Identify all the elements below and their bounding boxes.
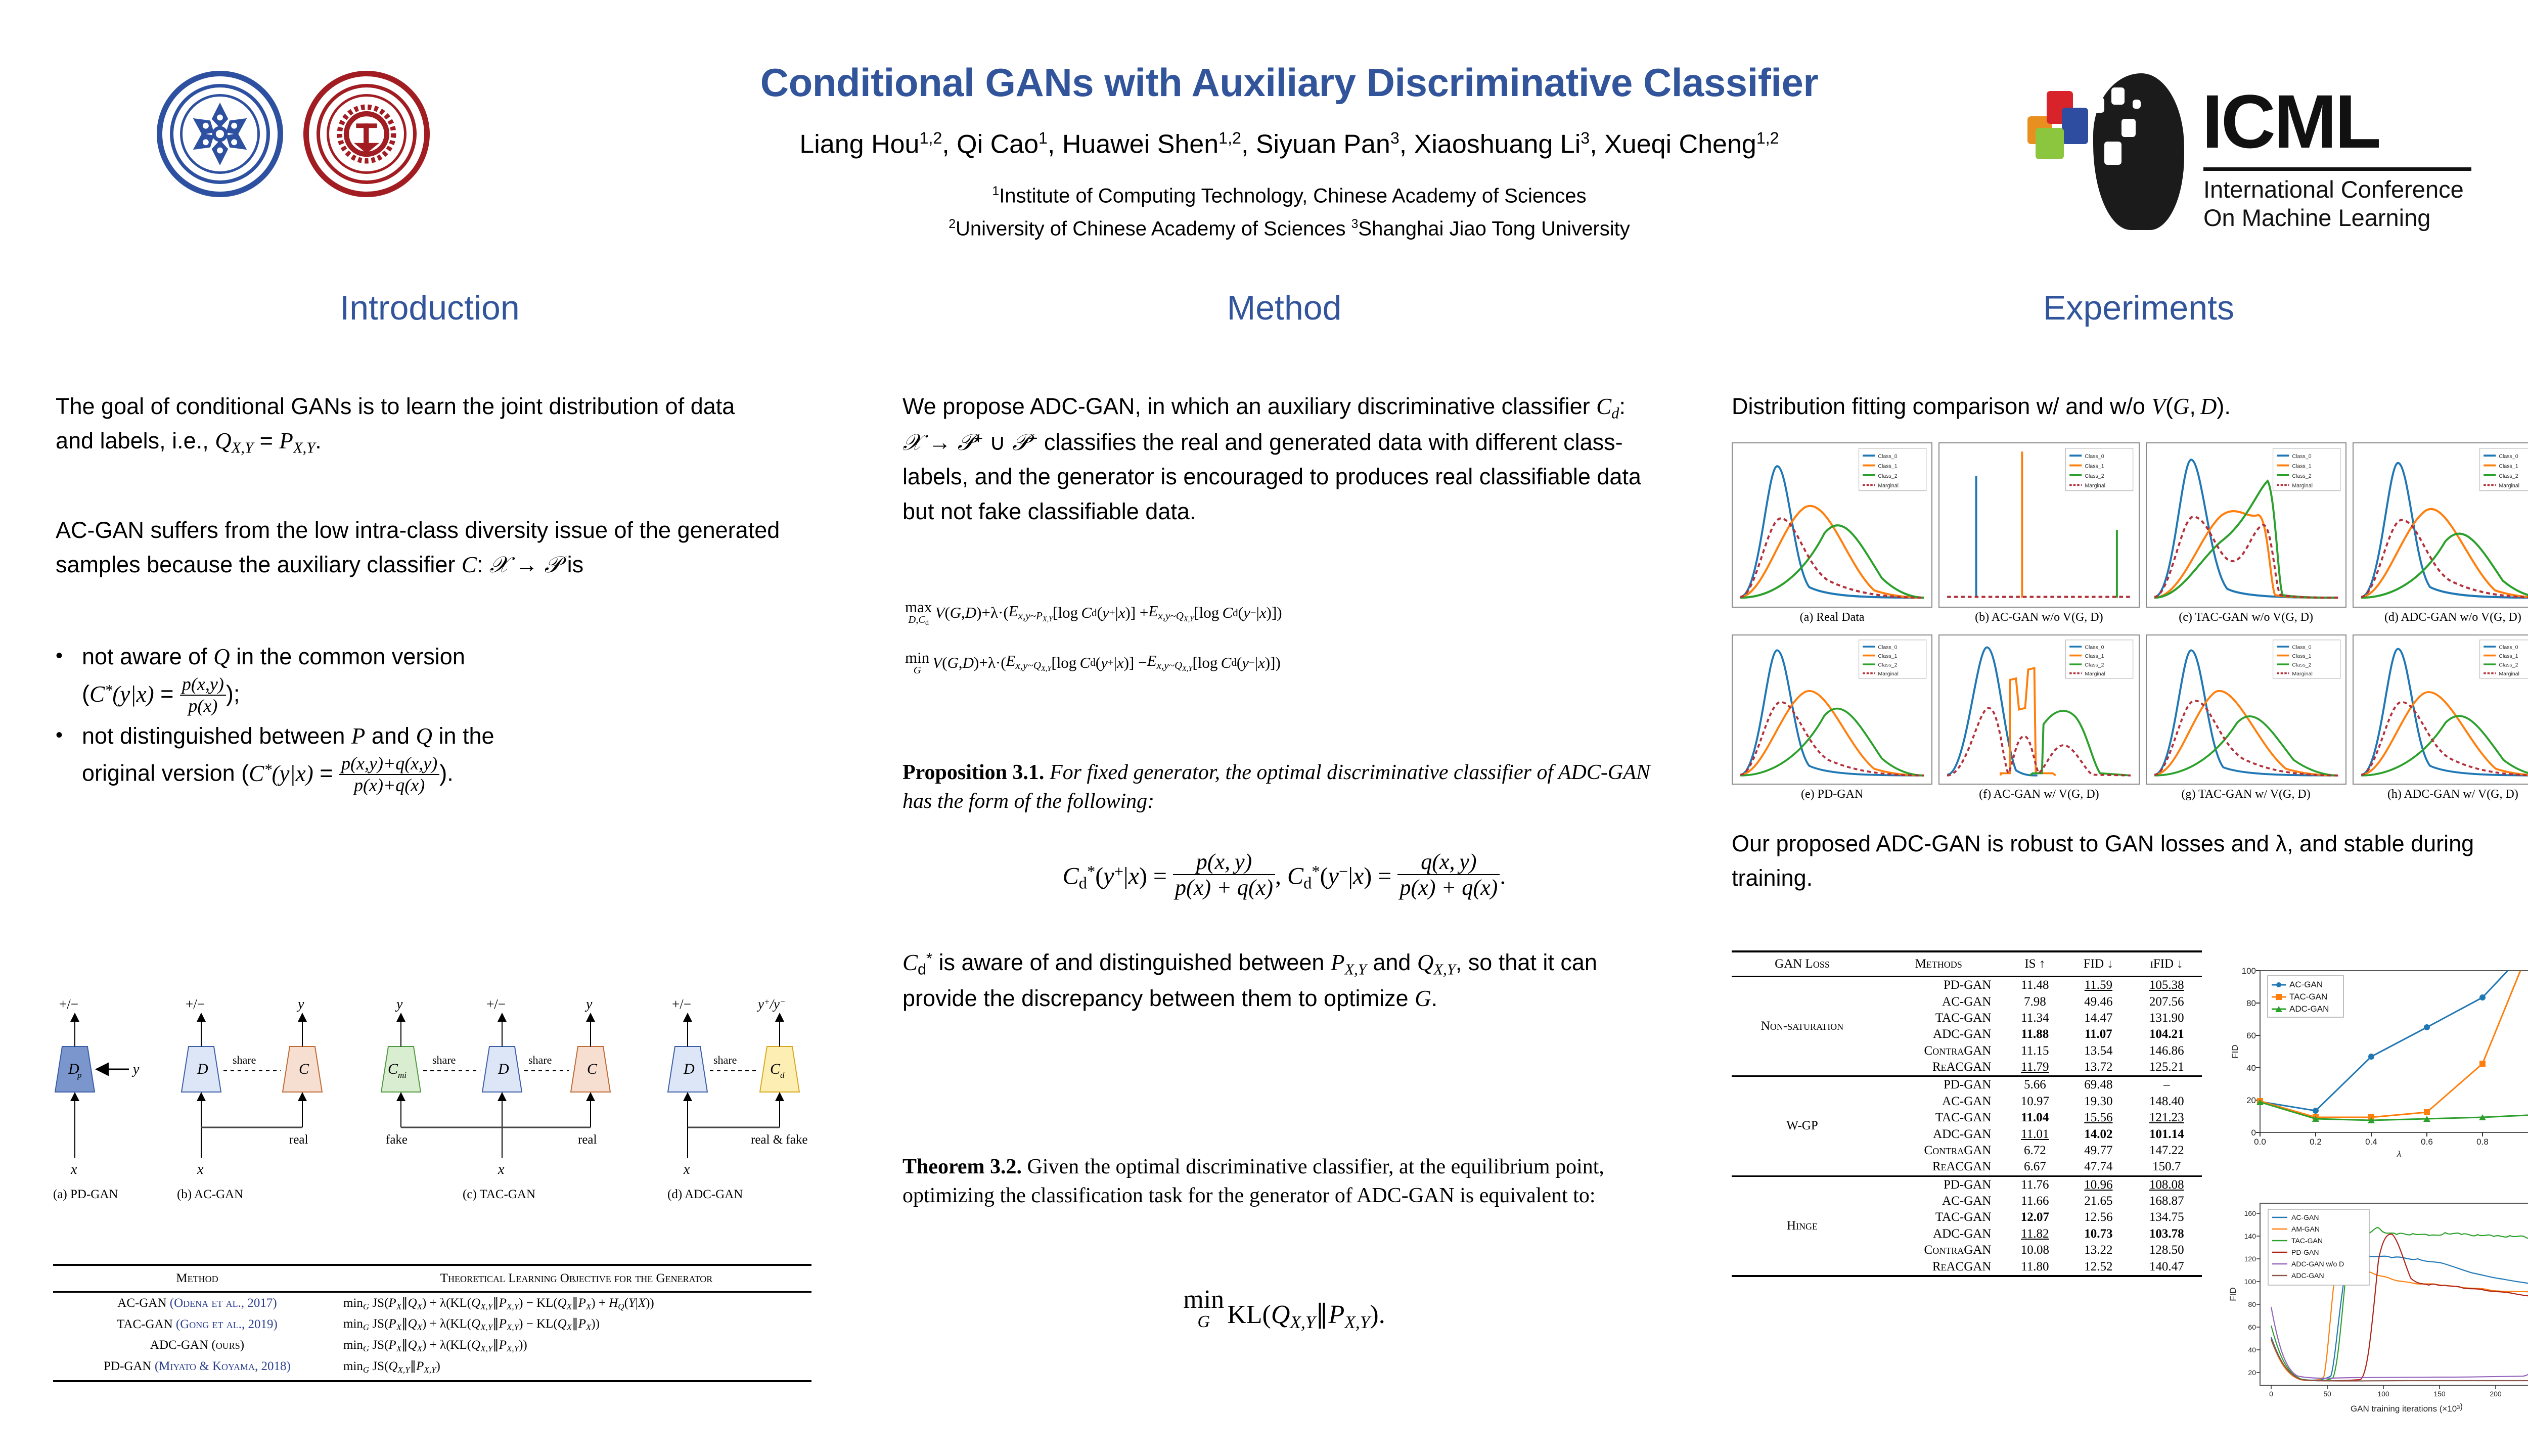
svg-text:Class_1: Class_1 (2085, 654, 2104, 659)
svg-text:Class_2: Class_2 (1878, 473, 1897, 479)
intro-paragraph-2: AC-GAN suffers from the low intra-class … (56, 513, 789, 582)
density-plot: Class_0 Class_1 Class_2 Marginal (2353, 634, 2528, 785)
svg-text:Marginal: Marginal (1878, 671, 1899, 677)
svg-text:(d) ADC-GAN: (d) ADC-GAN (667, 1188, 743, 1201)
density-figure-row-1: Class_0 Class_1 Class_2 Marginal (a) Rea… (1732, 442, 2528, 624)
chinese-academy-of-sciences-logo (157, 71, 283, 197)
icml-wordmark: ICML (2202, 83, 2379, 159)
theorem-equation: minGKL(QX,Y∥PX,Y). (905, 1287, 1663, 1333)
shanghai-jiao-tong-university-logo (303, 71, 430, 197)
svg-text:C: C (587, 1061, 598, 1077)
svg-text:share: share (528, 1054, 552, 1066)
svg-text:share: share (713, 1054, 737, 1066)
svg-text:Class_1: Class_1 (2499, 463, 2518, 469)
svg-text:y+/y−: y+/y− (756, 996, 785, 1012)
table-row: PD-GAN (Miyato & Koyama, 2018) minG JS(Q… (53, 1356, 811, 1381)
proposition-equation: Cd*(y+|x) = p(x, y)p(x) + q(x), Cd*(y−|x… (905, 849, 1663, 900)
table-row: AC-GAN (Odena et al., 2017) minG JS(PX∥Q… (53, 1292, 811, 1314)
svg-text:x: x (498, 1162, 505, 1177)
bullet-marker: • (56, 640, 82, 716)
proposition-3-1: Proposition 3.1. For fixed generator, th… (902, 758, 1656, 816)
svg-text:C: C (388, 1061, 398, 1077)
table-row: Non-saturation PD-GAN11.4811.59105.38 (1732, 977, 2202, 994)
svg-text:Class_1: Class_1 (1878, 463, 1897, 469)
density-panel-e: Class_0 Class_1 Class_2 Marginal (e) PD-… (1732, 634, 1932, 801)
affiliation-2: 2University of Chinese Academy of Scienc… (581, 217, 1997, 240)
icml-divider (2203, 167, 2471, 171)
section-heading-experiments: Experiments (1729, 288, 2528, 328)
svg-text:Class_0: Class_0 (2085, 453, 2104, 460)
panel-caption: (h) ADC-GAN w/ V(G, D) (2353, 788, 2528, 801)
svg-text:FID: FID (2228, 1287, 2238, 1301)
svg-text:60: 60 (2246, 1031, 2256, 1040)
section-heading-method: Method (900, 288, 1668, 328)
icml-logo: ICML International Conference On Machine… (2022, 68, 2528, 235)
svg-text:80: 80 (2246, 998, 2256, 1008)
svg-text:Class_0: Class_0 (2085, 645, 2104, 650)
svg-text:60: 60 (2248, 1323, 2256, 1331)
density-plot: Class_0 Class_1 Class_2 Marginal (1938, 634, 2139, 785)
svg-text:100: 100 (2242, 966, 2256, 976)
gan-architectures-figure: Dp +/− x y (a) PD-GAN D C share +/− y x … (48, 955, 817, 1208)
svg-text:40: 40 (2246, 1063, 2256, 1073)
svg-text:real & fake: real & fake (751, 1133, 807, 1147)
intro-bullet-list: • not aware of Q in the common version (… (56, 640, 799, 798)
sjtu-gear-icon (329, 97, 404, 171)
panel-caption: (d) ADC-GAN w/o V(G, D) (2353, 611, 2528, 624)
icml-brain-icon (2093, 73, 2184, 230)
svg-text:(a) PD-GAN: (a) PD-GAN (53, 1188, 118, 1201)
col-header-objective: Theoretical Learning Objective for the G… (341, 1265, 811, 1292)
svg-text:100: 100 (2377, 1390, 2389, 1398)
experiments-caption-2: Our proposed ADC-GAN is robust to GAN lo… (1732, 827, 2528, 896)
method-equation-min: minG V(G,D)+λ·(Ex,y~QX,Y[log Cd(y+|x)] −… (905, 650, 1663, 675)
method-equation-max: maxD,Cd V(G,D)+λ·(Ex,y~PX,Y[log Cd(y+|x)… (905, 599, 1663, 627)
svg-text:y: y (296, 996, 304, 1012)
svg-text:Class_1: Class_1 (2085, 463, 2104, 469)
page-title: Conditional GANs with Auxiliary Discrimi… (581, 60, 1997, 106)
affiliation-1: 1Institute of Computing Technology, Chin… (581, 185, 1997, 207)
density-figure-row-2: Class_0 Class_1 Class_2 Marginal (e) PD-… (1732, 634, 2528, 801)
col-header-methods: Methods (1873, 951, 2004, 977)
svg-text:0.2: 0.2 (2310, 1137, 2322, 1147)
svg-text:y: y (584, 996, 593, 1012)
density-plot: Class_0 Class_1 Class_2 Marginal (2146, 442, 2346, 608)
density-plot: Class_0 Class_1 Class_2 Marginal (1938, 442, 2139, 608)
group-label-wgp: W-GP (1732, 1076, 1873, 1176)
svg-text:x: x (70, 1162, 77, 1177)
cas-flower-icon (183, 97, 257, 171)
svg-text:x: x (683, 1162, 690, 1177)
icml-subtitle-line1: International Conference (2203, 175, 2464, 203)
density-plot: Class_0 Class_1 Class_2 Marginal (1732, 634, 1932, 785)
group-label-hinge: Hinge (1732, 1176, 1873, 1276)
svg-text:D: D (498, 1061, 509, 1077)
svg-text:0.8: 0.8 (2476, 1137, 2489, 1147)
panel-caption: (e) PD-GAN (1732, 788, 1932, 801)
svg-text:real: real (578, 1133, 597, 1147)
col-header-gan-loss: GAN Loss (1732, 951, 1873, 977)
svg-text:Class_2: Class_2 (2085, 473, 2104, 479)
svg-text:Class_0: Class_0 (2292, 645, 2311, 650)
legend-label-pd-gan: PD-GAN (2291, 1248, 2319, 1256)
svg-text:share: share (233, 1054, 256, 1066)
svg-text:D: D (683, 1061, 695, 1077)
svg-text:Class_2: Class_2 (2085, 663, 2104, 668)
svg-text:Marginal: Marginal (2085, 671, 2106, 677)
icml-pixel-blue (2062, 108, 2088, 144)
svg-text:C: C (770, 1061, 781, 1077)
density-plot: Class_0 Class_1 Class_2 Marginal (1732, 442, 1932, 608)
lambda-sensitivity-chart: 0 20 40 60 80 100 0.00.20.4 0.60.81.0 λ … (2225, 950, 2528, 1163)
legend-label-am-gan: AM-GAN (2291, 1225, 2320, 1233)
table-row: ADC-GAN (ours) minG JS(PX∥QX) + λ(KL(QX,… (53, 1335, 811, 1356)
panel-caption: (g) TAC-GAN w/ V(G, D) (2146, 788, 2346, 801)
density-plot: Class_0 Class_1 Class_2 Marginal (2353, 442, 2528, 608)
svg-text:40: 40 (2248, 1346, 2256, 1354)
training-stability-chart: 204060 80100120 140160 050100 150200250 … (2225, 1188, 2528, 1426)
svg-text:Class_2: Class_2 (2499, 473, 2518, 479)
col-header-is: IS ↑ (2004, 951, 2065, 977)
legend-label-tac-gan: TAC-GAN (2291, 1237, 2323, 1245)
bullet-text: not aware of Q in the common version (C*… (82, 640, 799, 716)
section-heading-introduction: Introduction (51, 288, 809, 328)
svg-text:y: y (395, 996, 403, 1012)
density-panel-b: Class_0 Class_1 Class_2 Marginal (b) AC-… (1938, 442, 2139, 624)
svg-text:Class_2: Class_2 (2499, 663, 2518, 668)
svg-text:Class_0: Class_0 (1878, 645, 1897, 650)
svg-text:100: 100 (2244, 1278, 2256, 1286)
svg-text:+/−: +/− (486, 996, 506, 1012)
svg-text:160: 160 (2244, 1209, 2256, 1217)
table-row: W-GP PD-GAN5.6669.48– (1732, 1076, 2202, 1094)
svg-text:0.4: 0.4 (2365, 1137, 2377, 1147)
bullet-marker: • (56, 719, 82, 795)
col-header-fid: FID ↓ (2065, 951, 2131, 977)
svg-text:Class_1: Class_1 (2292, 463, 2311, 469)
svg-text:Class_1: Class_1 (2292, 654, 2311, 659)
poster-header: Conditional GANs with Auxiliary Discrimi… (0, 0, 2528, 263)
col-header-method: Method (53, 1265, 341, 1292)
svg-text:0: 0 (2269, 1390, 2273, 1398)
proposition-label: Proposition 3.1. (902, 761, 1044, 784)
svg-text:Class_2: Class_2 (2292, 473, 2311, 479)
svg-text:D: D (197, 1061, 208, 1077)
svg-text:+/−: +/− (59, 996, 78, 1012)
density-panel-h: Class_0 Class_1 Class_2 Marginal (h) ADC… (2353, 634, 2528, 801)
svg-text:50: 50 (2323, 1390, 2331, 1398)
icml-subtitle-line2: On Machine Learning (2203, 204, 2430, 232)
panel-caption: (c) TAC-GAN w/o V(G, D) (2146, 611, 2346, 624)
legend-label-ac-gan: AC-GAN (2291, 1213, 2319, 1221)
table-row: TAC-GAN (Gong et al., 2019) minG JS(PX∥Q… (53, 1314, 811, 1335)
legend-label-tac-gan: TAC-GAN (2289, 992, 2327, 1002)
svg-text:Marginal: Marginal (2292, 671, 2313, 677)
table-row: Hinge PD-GAN11.7610.96108.08 (1732, 1176, 2202, 1193)
svg-text:y: y (131, 1062, 140, 1077)
method-paragraph-1: We propose ADC-GAN, in which an auxiliar… (902, 389, 1651, 529)
svg-text:20: 20 (2248, 1369, 2256, 1377)
svg-text:120: 120 (2244, 1255, 2256, 1263)
svg-text:Marginal: Marginal (1878, 483, 1899, 489)
density-plot: Class_0 Class_1 Class_2 Marginal (2146, 634, 2346, 785)
svg-text:Class_1: Class_1 (2499, 654, 2518, 659)
density-panel-f: Class_0 Class_1 Class_2 Marginal (f) AC-… (1938, 634, 2139, 801)
svg-text:real: real (289, 1133, 308, 1147)
legend-label-adc-gan: ADC-GAN (2289, 1004, 2329, 1014)
icml-pixel-green (2036, 128, 2064, 159)
intro-bullet-2: • not distinguished between P and Q in t… (56, 719, 799, 795)
svg-text:0.6: 0.6 (2421, 1137, 2433, 1147)
theorem-3-2: Theorem 3.2. Given the optimal discrimin… (902, 1153, 1661, 1210)
svg-text:Class_0: Class_0 (2292, 453, 2311, 460)
legend-label-adc-gan-wo-d: ADC-GAN w/o D (2291, 1260, 2344, 1268)
svg-text:Class_2: Class_2 (2292, 663, 2311, 668)
intro-paragraph-1: The goal of conditional GANs is to learn… (56, 389, 779, 460)
theorem-label: Theorem 3.2. (902, 1155, 1022, 1178)
svg-text:150: 150 (2433, 1390, 2446, 1398)
svg-text:(c) TAC-GAN: (c) TAC-GAN (463, 1188, 535, 1201)
svg-text:80: 80 (2248, 1300, 2256, 1308)
legend-label-adc-gan: ADC-GAN (2291, 1271, 2324, 1280)
svg-text:share: share (432, 1054, 456, 1066)
bullet-text: not distinguished between P and Q in the… (82, 719, 799, 795)
svg-text:140: 140 (2244, 1232, 2256, 1240)
svg-text:0: 0 (2251, 1128, 2256, 1137)
svg-text:fake: fake (386, 1133, 408, 1147)
density-panel-d: Class_0 Class_1 Class_2 Marginal (d) ADC… (2353, 442, 2528, 624)
svg-text:20: 20 (2246, 1096, 2256, 1105)
panel-caption: (a) Real Data (1732, 611, 1932, 624)
panel-caption: (f) AC-GAN w/ V(G, D) (1938, 788, 2139, 801)
svg-text:λ: λ (2397, 1149, 2401, 1159)
svg-text:200: 200 (2490, 1390, 2502, 1398)
intro-bullet-1: • not aware of Q in the common version (… (56, 640, 799, 716)
author-list: Liang Hou1,2, Qi Cao1, Huawei Shen1,2, S… (581, 129, 1997, 159)
svg-text:Marginal: Marginal (2499, 671, 2519, 677)
svg-text:Marginal: Marginal (2292, 483, 2313, 489)
col-header-ifid: iFID ↓ (2131, 951, 2202, 977)
svg-text:mi: mi (398, 1070, 407, 1080)
svg-text:Class_0: Class_0 (2499, 453, 2518, 460)
svg-text:GAN training iterations (×103): GAN training iterations (×103) (2351, 1401, 2463, 1414)
learning-objective-table: Method Theoretical Learning Objective fo… (53, 1264, 811, 1384)
svg-text:Class_2: Class_2 (1878, 663, 1897, 668)
svg-text:Marginal: Marginal (2499, 483, 2519, 489)
svg-text:Class_0: Class_0 (2499, 645, 2518, 650)
svg-text:d: d (780, 1070, 785, 1080)
density-panel-c: Class_0 Class_1 Class_2 Marginal (c) TAC… (2146, 442, 2346, 624)
svg-text:C: C (299, 1061, 309, 1077)
results-table: GAN Loss Methods IS ↑ FID ↓ iFID ↓ Non-s… (1732, 950, 2202, 1278)
density-panel-g: Class_0 Class_1 Class_2 Marginal (g) TAC… (2146, 634, 2346, 801)
svg-text:p: p (77, 1070, 82, 1080)
experiments-caption-1: Distribution fitting comparison w/ and w… (1732, 389, 2528, 424)
svg-text:FID: FID (2230, 1044, 2240, 1058)
svg-text:0.0: 0.0 (2254, 1137, 2266, 1147)
group-label-non-saturation: Non-saturation (1732, 977, 1873, 1076)
legend-label-ac-gan: AC-GAN (2289, 980, 2323, 989)
panel-caption: (b) AC-GAN w/o V(G, D) (1938, 611, 2139, 624)
density-panel-a: Class_0 Class_1 Class_2 Marginal (a) Rea… (1732, 442, 1932, 624)
svg-text:Marginal: Marginal (2085, 483, 2106, 489)
svg-text:Class_0: Class_0 (1878, 453, 1897, 460)
svg-text:(b) AC-GAN: (b) AC-GAN (177, 1188, 243, 1201)
svg-text:Class_1: Class_1 (1878, 654, 1897, 659)
svg-text:x: x (197, 1162, 204, 1177)
svg-text:+/−: +/− (186, 996, 205, 1012)
method-paragraph-2: Cd* is aware of and distinguished betwee… (902, 945, 1651, 1016)
svg-text:+/−: +/− (672, 996, 691, 1012)
